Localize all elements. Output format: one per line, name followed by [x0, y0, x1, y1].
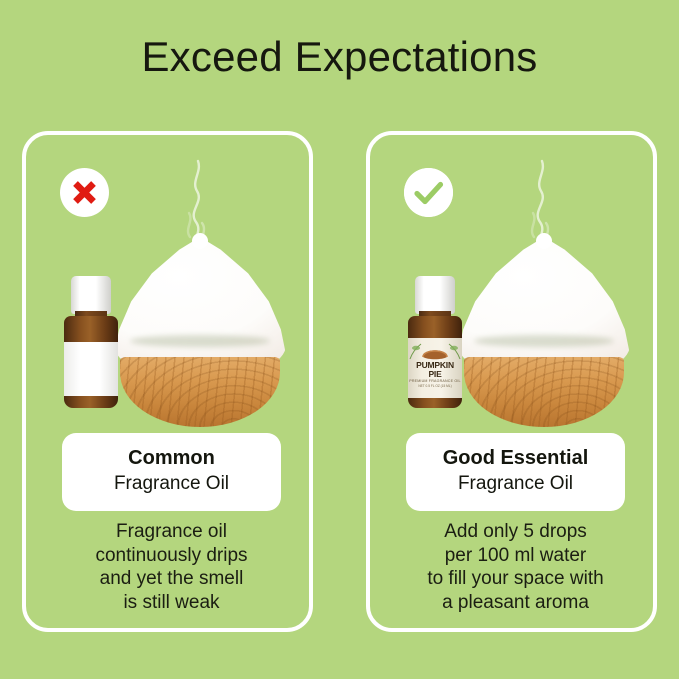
diffuser-top-cover [114, 237, 286, 377]
bottle-body [64, 316, 118, 408]
product-scene-common [26, 153, 309, 443]
bottle-cap [71, 276, 111, 314]
oil-bottle-common [62, 276, 120, 408]
infographic-poster: Exceed Expectations [0, 0, 679, 679]
product-name: Good Essential [414, 446, 617, 471]
bottle-net-volume: NET 0.5 FL OZ (15 ML) [418, 384, 451, 388]
bottle-cap [415, 276, 455, 314]
description-line: to fill your space with [380, 567, 651, 591]
diffuser-mist-outlet [536, 233, 552, 249]
description-line: Fragrance oil [36, 520, 307, 544]
diffuser-shadow [130, 335, 270, 347]
bottle-body: PUMPKIN PIE PREMIUM FRAGRANCE OIL NET 0.… [408, 316, 462, 408]
diffuser-wood-base [120, 357, 280, 427]
description-line: is still weak [36, 591, 307, 615]
description-line: continuously drips [36, 544, 307, 568]
comparison-panel-good-essential: PUMPKIN PIE PREMIUM FRAGRANCE OIL NET 0.… [366, 131, 657, 632]
diffuser-device [114, 237, 286, 427]
bottle-scent-name-2: PIE [428, 370, 441, 380]
description-good-essential: Add only 5 drops per 100 ml water to fil… [380, 520, 651, 614]
diffuser-device [458, 237, 630, 427]
pumpkin-pie-illustration [408, 339, 462, 361]
product-name-card-good-essential: Good Essential Fragrance Oil [406, 433, 625, 511]
bottle-label-pumpkin-pie: PUMPKIN PIE PREMIUM FRAGRANCE OIL NET 0.… [408, 338, 462, 398]
diffuser-mist-outlet [192, 233, 208, 249]
diffuser-shadow [474, 335, 614, 347]
product-name-card-common: Common Fragrance Oil [62, 433, 281, 511]
product-scene-good-essential: PUMPKIN PIE PREMIUM FRAGRANCE OIL NET 0.… [370, 153, 653, 443]
bottle-label-blank [64, 342, 118, 396]
page-title: Exceed Expectations [0, 34, 679, 80]
pie-slice-icon [408, 339, 462, 361]
diffuser-wood-base [464, 357, 624, 427]
description-line: per 100 ml water [380, 544, 651, 568]
product-subtitle: Fragrance Oil [70, 471, 273, 496]
oil-bottle-good-essential: PUMPKIN PIE PREMIUM FRAGRANCE OIL NET 0.… [406, 276, 464, 408]
description-line: a pleasant aroma [380, 591, 651, 615]
comparison-panel-common: Common Fragrance Oil Fragrance oil conti… [22, 131, 313, 632]
product-name: Common [70, 446, 273, 471]
description-common: Fragrance oil continuously drips and yet… [36, 520, 307, 614]
diffuser-top-cover [458, 237, 630, 377]
description-line: and yet the smell [36, 567, 307, 591]
description-line: Add only 5 drops [380, 520, 651, 544]
product-subtitle: Fragrance Oil [414, 471, 617, 496]
